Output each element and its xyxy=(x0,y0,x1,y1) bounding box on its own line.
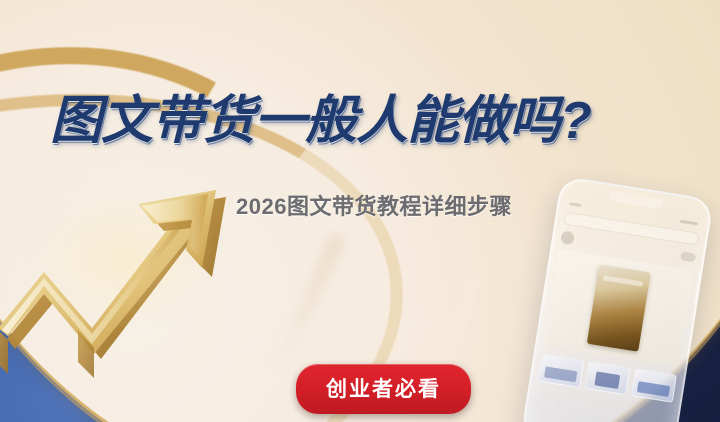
phone-thumbnail xyxy=(538,354,584,388)
growth-arrow-graphic xyxy=(0,178,252,398)
status-badge: 创业者必看 xyxy=(296,364,471,414)
avatar xyxy=(560,230,575,245)
phone-author-lines xyxy=(578,239,677,255)
phone-thumbnail xyxy=(631,369,677,403)
poster-canvas: 图文带货一般人能做吗? 2026图文带货教程详细步骤 创业者必看 xyxy=(0,0,720,422)
phone-hero-image xyxy=(544,249,694,367)
phone-screen xyxy=(531,199,702,422)
page-subtitle: 2026图文带货教程详细步骤 xyxy=(236,196,512,218)
phone-status-time xyxy=(569,202,581,207)
phone-follow-button xyxy=(680,251,696,262)
phone-product-image xyxy=(587,265,651,352)
phone-status-icons xyxy=(680,219,698,225)
phone-thumbnail xyxy=(585,361,631,395)
page-title: 图文带货一般人能做吗? xyxy=(50,95,591,147)
